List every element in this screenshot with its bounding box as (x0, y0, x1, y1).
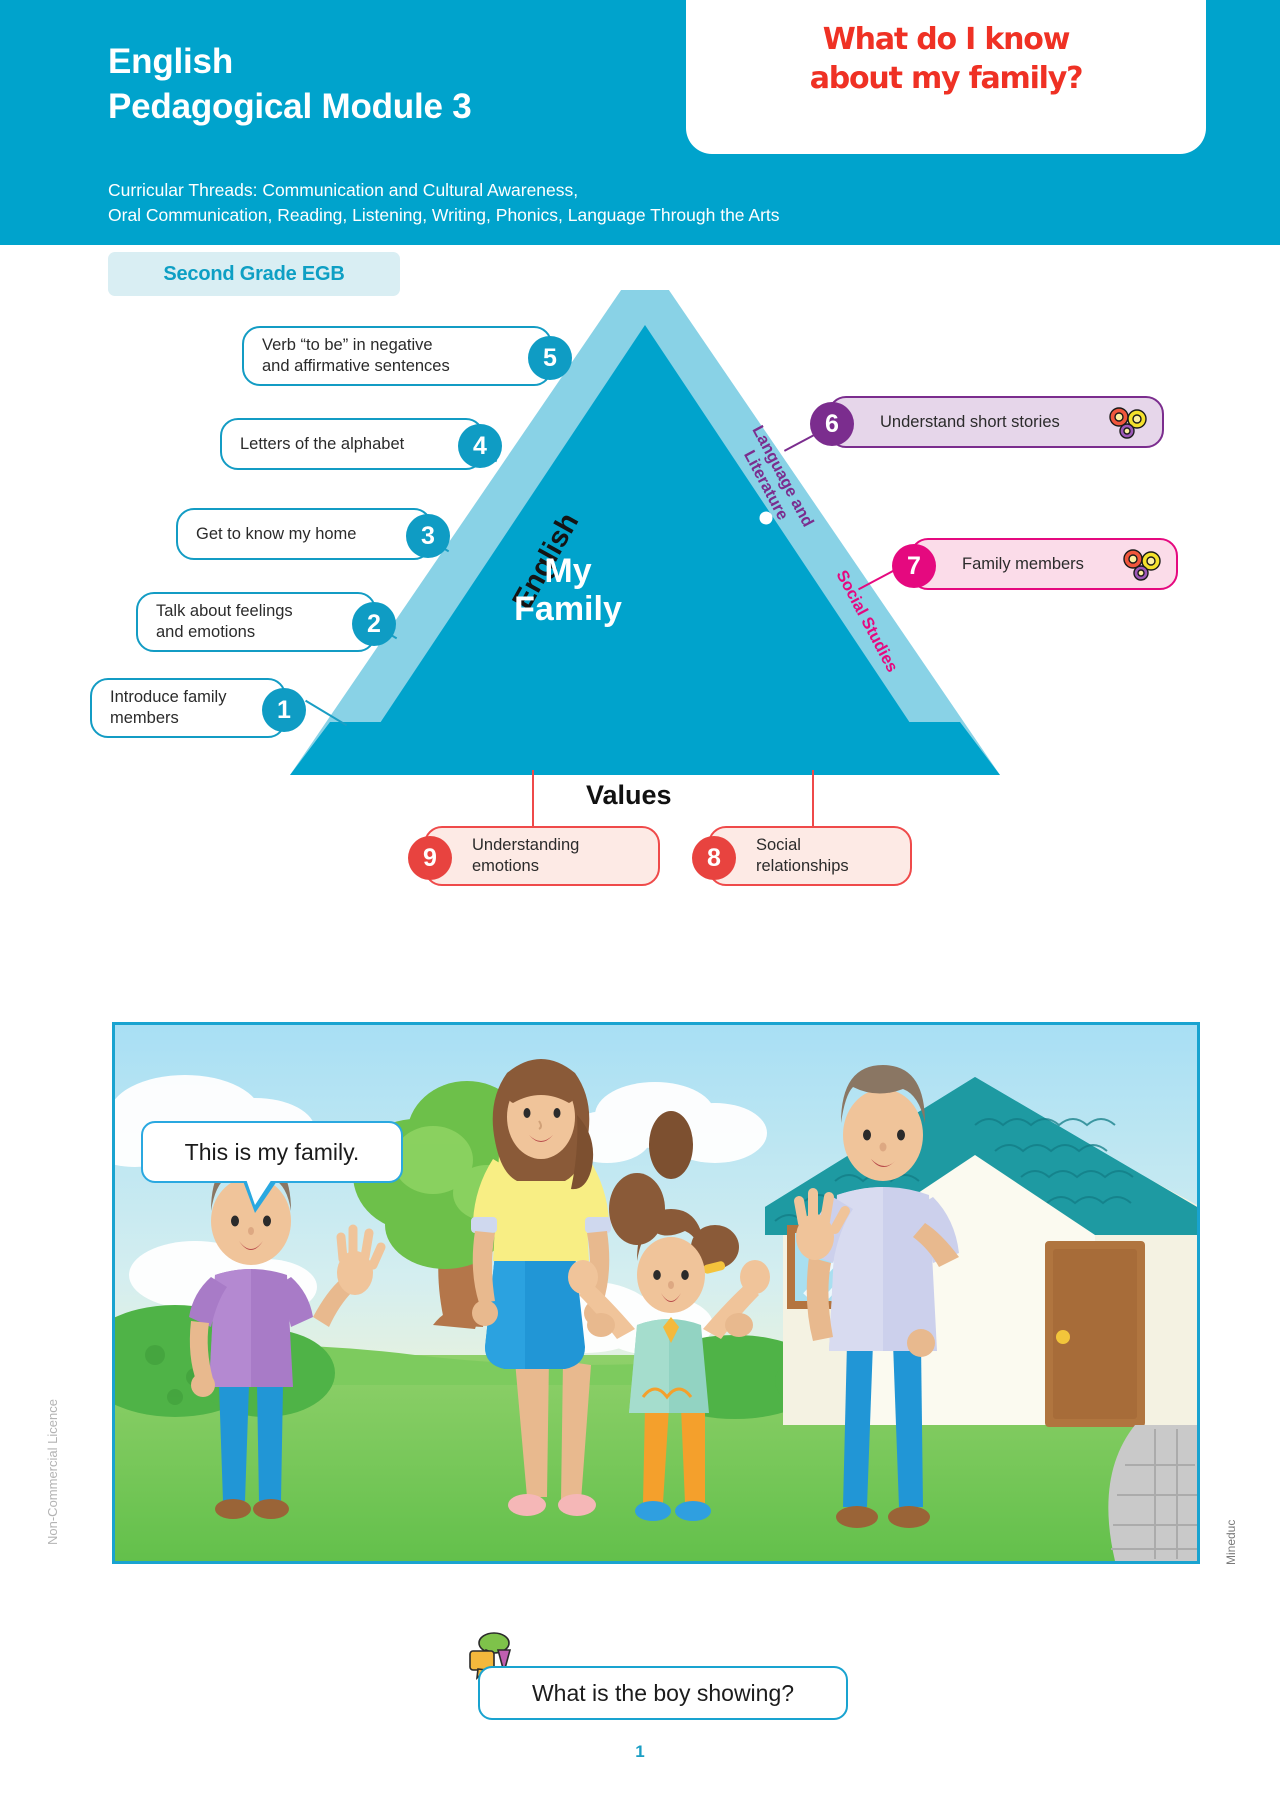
callout-6-number: 6 (810, 402, 854, 446)
callout-5-line2: and affirmative sentences (262, 356, 450, 377)
callout-3-number: 3 (406, 514, 450, 558)
callout-8-line2: relationships (756, 856, 849, 877)
callout-9-line1: Understanding (472, 836, 579, 854)
page-title-line1: English (108, 42, 233, 81)
callout-2-number: 2 (352, 602, 396, 646)
page-root: English Pedagogical Module 3 Curricular … (0, 0, 1280, 1811)
callout-5[interactable]: Verb “to be” in negative and affirmative… (242, 326, 552, 386)
callout-7-text: Family members (962, 554, 1084, 575)
center-text-line2: Family (448, 590, 688, 628)
callout-9-text: Understanding emotions (472, 835, 579, 876)
speech-bubble: This is my family. (141, 1121, 403, 1183)
callout-4[interactable]: Letters of the alphabet 4 (220, 418, 484, 470)
callout-9[interactable]: Understanding emotions 9 (424, 826, 660, 886)
callout-1-number: 1 (262, 688, 306, 732)
callout-7[interactable]: Family members 7 (910, 538, 1178, 590)
page-number: 1 (0, 1742, 1280, 1762)
callout-6-text: Understand short stories (880, 412, 1060, 433)
gears-icon-7 (1120, 547, 1164, 581)
module-question-line2: about my family? (686, 59, 1206, 98)
callout-5-line1: Verb “to be” in negative (262, 336, 433, 354)
speech-bubble-tail-inner (246, 1179, 272, 1205)
module-question-text: What do I know about my family? (686, 20, 1206, 98)
gears-icon-6 (1106, 405, 1150, 439)
callout-5-text: Verb “to be” in negative and affirmative… (262, 335, 450, 376)
callout-2-line2: and emotions (156, 622, 293, 643)
callout-6-line1: Understand short stories (880, 413, 1060, 431)
callout-4-line1: Letters of the alphabet (240, 435, 404, 453)
callout-1-text: Introduce family members (110, 687, 226, 728)
question-text: What is the boy showing? (532, 1680, 794, 1707)
callout-3-line1: Get to know my home (196, 525, 356, 543)
callout-5-number: 5 (528, 336, 572, 380)
curricular-threads: Curricular Threads: Communication and Cu… (108, 178, 780, 229)
triangle-label-values: Values (586, 780, 672, 811)
connector-8 (812, 770, 814, 826)
family-scene-svg (115, 1025, 1197, 1561)
callout-9-number: 9 (408, 836, 452, 880)
callout-7-line1: Family members (962, 555, 1084, 573)
callout-8-number: 8 (692, 836, 736, 880)
page-title: English Pedagogical Module 3 (108, 40, 472, 130)
module-question-line1: What do I know (823, 22, 1069, 57)
callout-6[interactable]: Understand short stories 6 (828, 396, 1164, 448)
callout-4-text: Letters of the alphabet (240, 434, 404, 455)
curricular-threads-line2: Oral Communication, Reading, Listening, … (108, 203, 780, 228)
page-title-line2: Pedagogical Module 3 (108, 85, 472, 130)
callout-2[interactable]: Talk about feelings and emotions 2 (136, 592, 376, 652)
callout-8-line1: Social (756, 836, 801, 854)
curricular-threads-line1: Curricular Threads: Communication and Cu… (108, 180, 578, 200)
curriculum-triangle-diagram: English Language and Literature Social S… (0, 290, 1280, 980)
callout-4-number: 4 (458, 424, 502, 468)
licence-note: Non-Commercial Licence (45, 1399, 60, 1545)
callout-9-line2: emotions (472, 856, 579, 877)
callout-8-text: Social relationships (756, 835, 849, 876)
callout-8[interactable]: Social relationships 8 (708, 826, 912, 886)
callout-7-number: 7 (892, 544, 936, 588)
illustration-credit: Mineduc (1224, 1520, 1238, 1565)
callout-1-line2: members (110, 708, 226, 729)
module-question-card: What do I know about my family? (686, 0, 1206, 154)
speech-bubble-text: This is my family. (185, 1139, 360, 1166)
center-text-line1: My (544, 552, 591, 590)
callout-2-line1: Talk about feelings (156, 602, 293, 620)
question-box: What is the boy showing? (478, 1666, 848, 1720)
callout-3-text: Get to know my home (196, 524, 356, 545)
callout-1-line1: Introduce family (110, 688, 226, 706)
triangle-center-text: My Family (448, 552, 688, 628)
family-illustration: This is my family. (112, 1022, 1200, 1564)
callout-2-text: Talk about feelings and emotions (156, 601, 293, 642)
grade-badge-label: Second Grade EGB (163, 263, 344, 286)
callout-1[interactable]: Introduce family members 1 (90, 678, 286, 738)
callout-3[interactable]: Get to know my home 3 (176, 508, 432, 560)
connector-9 (532, 770, 534, 826)
